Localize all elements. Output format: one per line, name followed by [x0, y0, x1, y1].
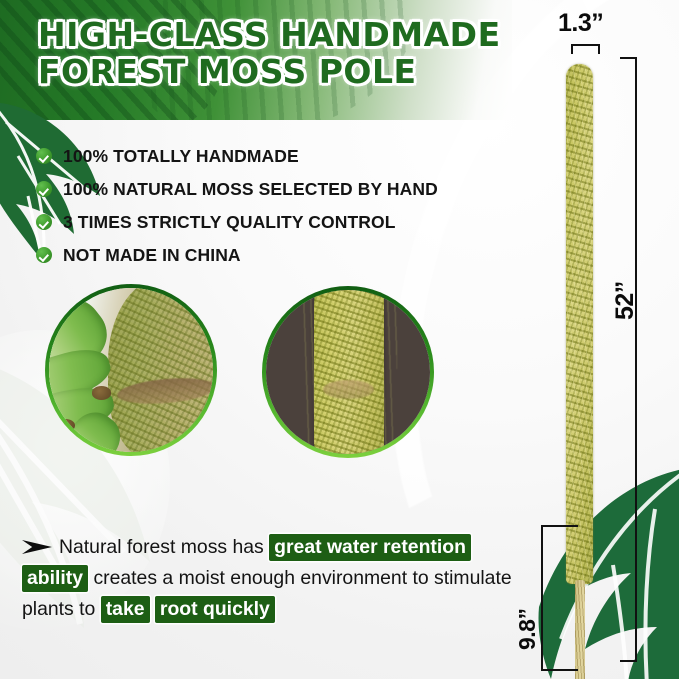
list-item: 100% NATURAL MOSS SELECTED BY HAND — [36, 173, 506, 205]
arrow-right-icon — [22, 540, 52, 554]
description-paragraph: Natural forest moss has great water rete… — [22, 532, 514, 625]
paragraph-highlight-take: take — [101, 596, 150, 623]
infographic-canvas: HIGH-CLASS HANDMADE FOREST MOSS POLE — [0, 0, 679, 679]
list-item: 100% TOTALLY HANDMADE — [36, 140, 506, 172]
page-title-line-2: FOREST MOSS POLE — [38, 53, 508, 90]
product-photo-plant-stems — [45, 284, 217, 456]
list-item: NOT MADE IN CHINA — [36, 239, 506, 271]
dimension-height-label: 52” — [611, 281, 640, 320]
feature-label: 100% TOTALLY HANDMADE — [63, 146, 299, 167]
plant-node — [92, 386, 112, 399]
check-circle-icon — [36, 181, 52, 197]
product-photo-moss-texture — [262, 286, 434, 458]
moss-fibers — [302, 290, 397, 454]
check-circle-icon — [36, 148, 52, 164]
page-title-line-1: HIGH-CLASS HANDMADE — [38, 16, 508, 53]
paragraph-text-1: Natural forest moss has — [59, 536, 264, 558]
check-circle-icon — [36, 214, 52, 230]
feature-label: NOT MADE IN CHINA — [63, 245, 241, 266]
feature-list: 100% TOTALLY HANDMADE 100% NATURAL MOSS … — [36, 140, 506, 272]
dimension-bottom-stick-label: 9.8” — [514, 609, 541, 650]
dimension-width-label: 1.3” — [558, 9, 603, 38]
width-measure-bracket — [571, 44, 600, 54]
moss-pole-surface — [108, 288, 213, 452]
bottom-stick-measure-bracket — [541, 525, 578, 671]
list-item: 3 TIMES STRICTLY QUALITY CONTROL — [36, 206, 506, 238]
height-measure-bracket — [620, 57, 637, 662]
feature-label: 100% NATURAL MOSS SELECTED BY HAND — [63, 179, 438, 200]
feature-label: 3 TIMES STRICTLY QUALITY CONTROL — [63, 212, 396, 233]
check-circle-icon — [36, 247, 52, 263]
moss-covered-section — [566, 64, 593, 584]
page-title: HIGH-CLASS HANDMADE FOREST MOSS POLE — [38, 16, 508, 90]
paragraph-highlight-2: root quickly — [155, 596, 275, 623]
